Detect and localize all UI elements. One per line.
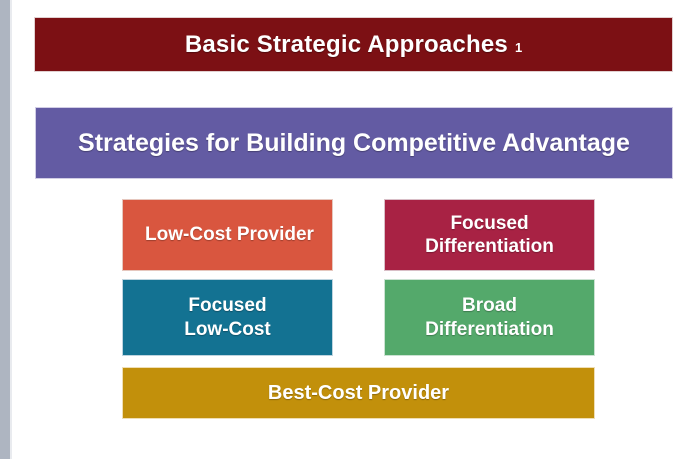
- strategy-box-broad-differentiation[interactable]: Broad Differentiation: [385, 280, 594, 355]
- strategy-box-label: Broad Differentiation: [425, 294, 554, 340]
- page-title-suffix: 1: [515, 40, 522, 55]
- slide-subtitle-banner: Strategies for Building Competitive Adva…: [36, 108, 672, 178]
- strategy-box-label: Focused Differentiation: [425, 212, 554, 258]
- left-rail-edge: [10, 0, 12, 459]
- strategy-box-best-cost-provider[interactable]: Best-Cost Provider: [123, 368, 594, 418]
- strategy-box-label-line1: Broad: [462, 295, 517, 316]
- strategy-box-focused-differentiation[interactable]: Focused Differentiation: [385, 200, 594, 270]
- strategy-box-label-line2: Low-Cost: [184, 319, 271, 340]
- strategy-box-label: Focused Low-Cost: [184, 294, 271, 340]
- page-title: Basic Strategic Approaches: [185, 31, 508, 59]
- slide-subtitle: Strategies for Building Competitive Adva…: [78, 129, 630, 158]
- strategy-box-label-line2: Differentiation: [425, 319, 554, 340]
- strategy-box-label: Low-Cost Provider: [145, 223, 314, 246]
- strategy-box-label-line1: Focused: [450, 213, 528, 234]
- strategy-box-label-line2: Differentiation: [425, 236, 554, 257]
- strategy-box-label-line1: Focused: [188, 295, 266, 316]
- strategy-box-label: Best-Cost Provider: [268, 381, 449, 405]
- strategy-box-low-cost-provider[interactable]: Low-Cost Provider: [123, 200, 332, 270]
- strategy-box-focused-low-cost[interactable]: Focused Low-Cost: [123, 280, 332, 355]
- slide-canvas: Basic Strategic Approaches 1 Strategies …: [0, 0, 700, 459]
- left-scroll-rail[interactable]: [0, 0, 10, 459]
- slide-title-banner: Basic Strategic Approaches 1: [35, 18, 672, 71]
